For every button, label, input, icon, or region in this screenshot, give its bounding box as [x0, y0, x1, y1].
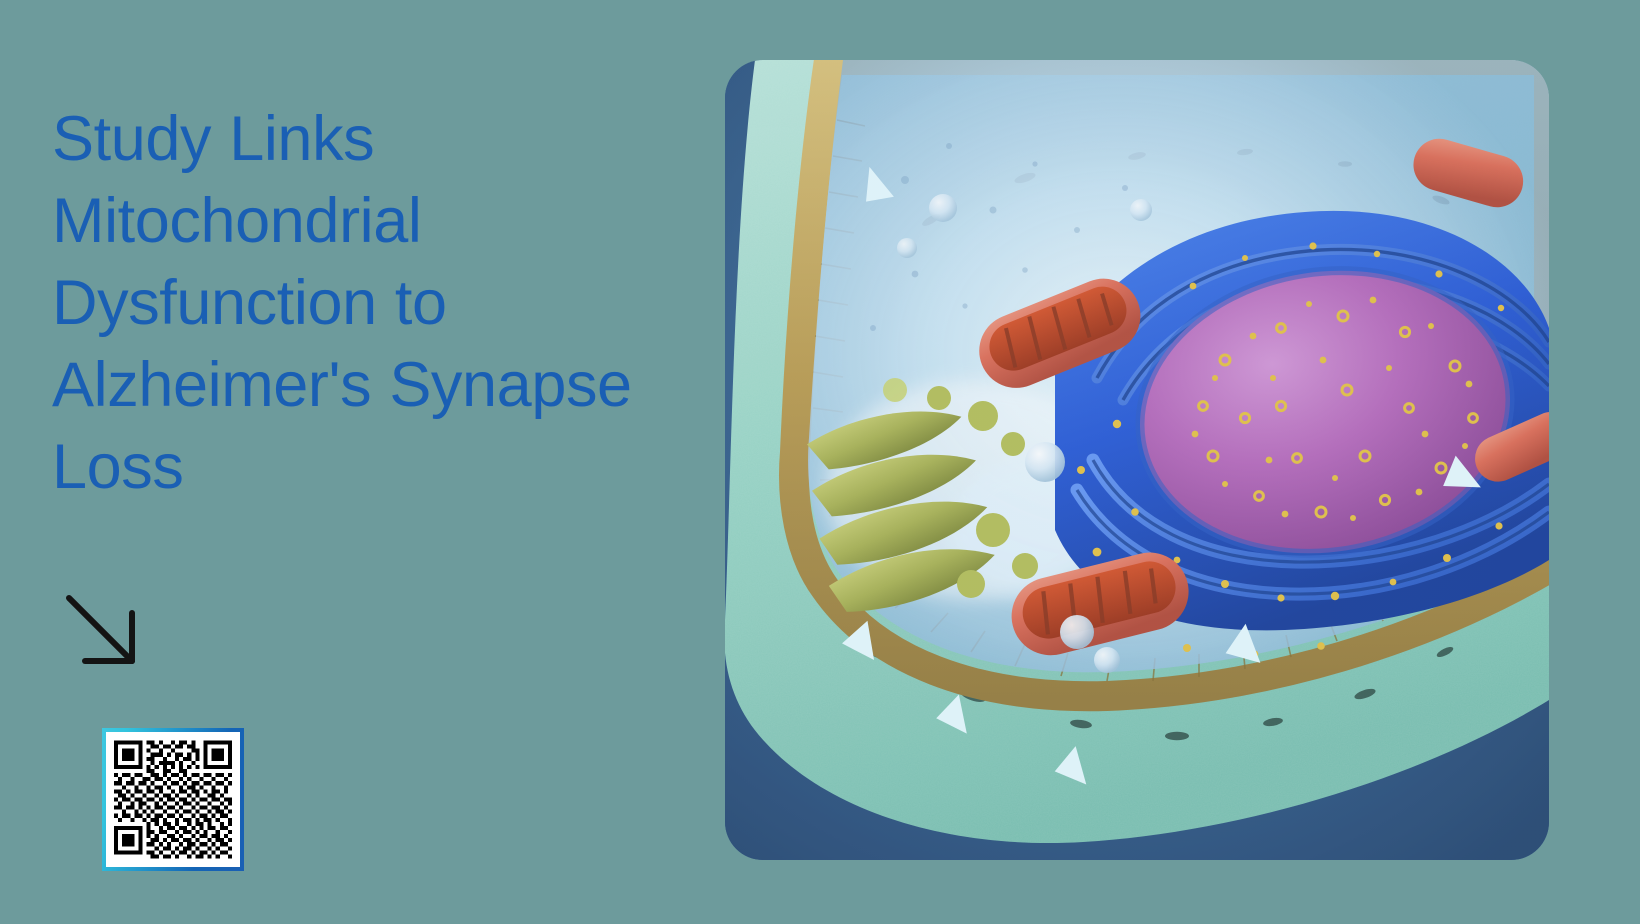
qr-code-icon [106, 732, 240, 867]
arrow-down-right-icon [54, 585, 174, 680]
left-column: Study Links Mitochondrial Dysfunction to… [52, 0, 712, 924]
cell-biology-illustration [725, 60, 1549, 860]
poster-root: Study Links Mitochondrial Dysfunction to… [0, 0, 1640, 924]
page-title: Study Links Mitochondrial Dysfunction to… [52, 98, 712, 508]
qr-code[interactable] [102, 728, 244, 871]
